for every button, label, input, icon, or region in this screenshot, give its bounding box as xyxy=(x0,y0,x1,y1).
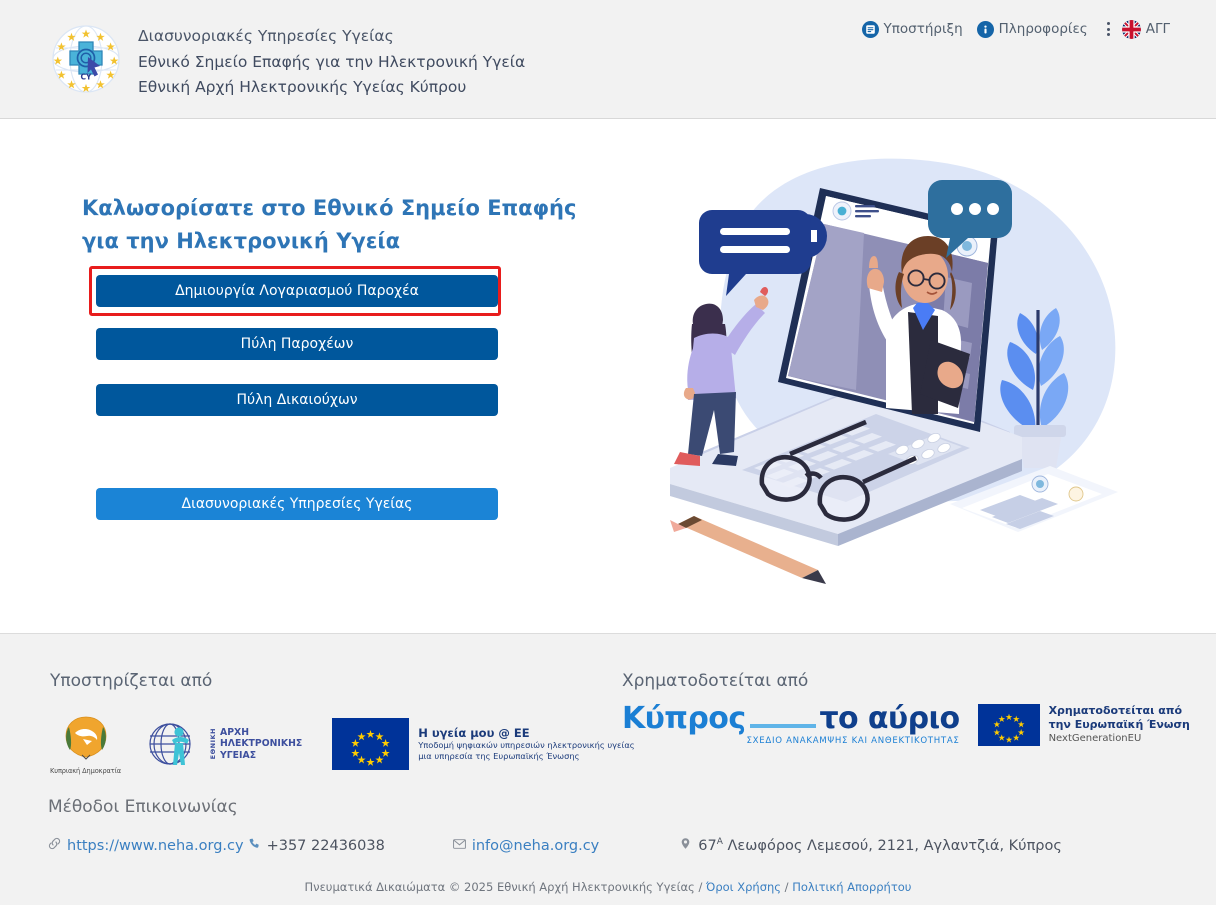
next-generation-eu-logo: Χρηματοδοτείται από την Ευρωπαϊκή Ένωση … xyxy=(978,704,1190,746)
provider-portal-button[interactable]: Πύλη Παροχέων xyxy=(96,328,498,360)
cyprus-tomorrow-word-1: Κύπρος xyxy=(622,703,746,735)
cyprus-republic-logo: Κυπριακή Δημοκρατία xyxy=(50,713,121,775)
ngeu-line-3: NextGenerationEU xyxy=(1049,732,1190,745)
uk-flag-icon xyxy=(1122,20,1141,39)
supported-by-heading: Υποστηρίζεται από xyxy=(50,671,635,691)
my-health-eu-sub-1: Υποδομή ψηφιακών υπηρεσιών ηλεκτρονικής … xyxy=(418,740,634,751)
my-health-eu-title: Η υγεία μου @ ΕΕ xyxy=(418,726,634,740)
link-icon xyxy=(48,837,61,854)
contact-methods-row: https://www.neha.org.cy +357 22436038 xyxy=(48,837,1168,854)
kebab-menu-icon[interactable] xyxy=(1102,19,1116,39)
funded-by-block: Χρηματοδοτείται από Κύπρος το αύριο ΣΧΕΔ… xyxy=(622,671,1190,746)
ngeu-line-2: την Ευρωπαϊκή Ένωση xyxy=(1049,718,1190,732)
eu-flag-icon-ngeu xyxy=(978,704,1040,746)
support-link[interactable]: Υποστήριξη xyxy=(862,21,963,38)
envelope-icon xyxy=(453,838,466,853)
phone-number: +357 22436038 xyxy=(267,838,385,854)
site-header: CY Διασυνοριακές Υπηρεσίες Υγείας Εθνικό… xyxy=(0,0,1216,119)
language-label: ΑΓΓ xyxy=(1146,21,1170,37)
brand-line-2: Εθνικό Σημείο Επαφής για την Ηλεκτρονική… xyxy=(138,50,525,76)
funded-by-heading: Χρηματοδοτείται από xyxy=(622,671,1190,691)
national-ehealth-authority-logo: ΕΘΝΙΚΗ ΑΡΧΗ ΗΛΕΚΤΡΟΝΙΚΗΣ ΥΓΕΙΑΣ xyxy=(145,721,302,767)
info-circle-icon xyxy=(977,21,994,38)
cyprus-tomorrow-tagline: ΣΧΕΔΙΟ ΑΝΑΚΑΜΨΗΣ ΚΑΙ ΑΝΘΕΚΤΙΚΟΤΗΤΑΣ xyxy=(622,736,960,746)
cyprus-republic-caption: Κυπριακή Δημοκρατία xyxy=(50,767,121,775)
beneficiary-portal-wrap: Πύλη Δικαιούχων xyxy=(96,384,498,416)
phone-contact[interactable]: +357 22436038 xyxy=(248,837,385,854)
create-provider-account-button[interactable]: Δημιουργία Λογαριασμού Παροχέα xyxy=(96,275,498,307)
address-contact: 67Α Λεωφόρος Λεμεσού, 2121, Αγλαντζιά, Κ… xyxy=(679,837,1062,854)
telehealth-laptop-doctor-illustration xyxy=(650,132,1150,602)
brand-line-1: Διασυνοριακές Υπηρεσίες Υγείας xyxy=(138,24,525,50)
website-contact[interactable]: https://www.neha.org.cy xyxy=(48,837,244,854)
copyright-bar: Πνευματικά Δικαιώματα © 2025 Εθνική Αρχή… xyxy=(0,880,1216,894)
support-document-icon xyxy=(862,21,879,38)
cta-button-group: Δημιουργία Λογαριασμού Παροχέα Πύλη Παρο… xyxy=(96,266,498,544)
address-number: 67 xyxy=(698,838,716,854)
ehealth-authority-line-1: ΑΡΧΗ xyxy=(220,727,302,738)
cross-border-health-services-button[interactable]: Διασυνοριακές Υπηρεσίες Υγείας xyxy=(96,488,498,520)
funded-logo-row: Κύπρος το αύριο ΣΧΕΔΙΟ ΑΝΑΚΑΜΨΗΣ ΚΑΙ ΑΝΘ… xyxy=(622,703,1190,746)
main-content: Καλωσορίσατε στο Εθνικό Σημείο Επαφής γι… xyxy=(0,120,1216,633)
svg-text:CY: CY xyxy=(81,73,93,82)
email-contact[interactable]: info@neha.org.cy xyxy=(453,838,599,854)
cyprus-tomorrow-logo: Κύπρος το αύριο ΣΧΕΔΙΟ ΑΝΑΚΑΜΨΗΣ ΚΑΙ ΑΝΘ… xyxy=(622,703,960,746)
ehealth-authority-line-2: ΗΛΕΚΤΡΟΝΙΚΗΣ xyxy=(220,738,302,749)
info-link-label: Πληροφορίες xyxy=(999,21,1088,37)
provider-portal-wrap: Πύλη Παροχέων xyxy=(96,328,498,360)
cyprus-tomorrow-divider xyxy=(750,724,816,728)
page-root: CY Διασυνοριακές Υπηρεσίες Υγείας Εθνικό… xyxy=(0,0,1216,905)
ehealth-authority-line-3: ΥΓΕΙΑΣ xyxy=(220,750,302,761)
email-link[interactable]: info@neha.org.cy xyxy=(472,838,599,854)
header-nav: Υποστήριξη Πληροφορίες xyxy=(862,19,1170,39)
map-pin-icon xyxy=(679,837,692,854)
supported-logo-row: Κυπριακή Δημοκρατία xyxy=(50,713,635,775)
contact-methods-heading: Μέθοδοι Επικοινωνίας xyxy=(48,797,238,817)
my-health-eu-logo: Η υγεία μου @ ΕΕ Υποδομή ψηφιακών υπηρεσ… xyxy=(332,718,634,770)
supported-by-block: Υποστηρίζεται από Κυπριακή Δημοκρατία xyxy=(50,671,635,775)
copyright-separator: / xyxy=(781,880,792,894)
welcome-heading: Καλωσορίσατε στο Εθνικό Σημείο Επαφής γι… xyxy=(82,192,582,258)
ngeu-line-1: Χρηματοδοτείται από xyxy=(1049,704,1190,718)
create-provider-account-highlight: Δημιουργία Λογαριασμού Παροχέα xyxy=(89,266,501,316)
beneficiary-portal-button[interactable]: Πύλη Δικαιούχων xyxy=(96,384,498,416)
ehealth-authority-vertical-label: ΕΘΝΙΚΗ xyxy=(209,728,217,759)
website-link[interactable]: https://www.neha.org.cy xyxy=(67,838,244,854)
address-text: 67Α Λεωφόρος Λεμεσού, 2121, Αγλαντζιά, Κ… xyxy=(698,837,1062,854)
address-rest: Λεωφόρος Λεμεσού, 2121, Αγλαντζιά, Κύπρο… xyxy=(723,838,1062,854)
eu-flag-icon xyxy=(332,718,409,770)
brand-block: CY Διασυνοριακές Υπηρεσίες Υγείας Εθνικό… xyxy=(48,21,525,101)
site-footer: Υποστηρίζεται από Κυπριακή Δημοκρατία xyxy=(0,633,1216,905)
copyright-text: Πνευματικά Δικαιώματα © 2025 Εθνική Αρχή… xyxy=(305,880,706,894)
my-health-eu-sub-2: μια υπηρεσία της Ευρωπαϊκής Ένωσης xyxy=(418,751,634,762)
info-link[interactable]: Πληροφορίες xyxy=(977,21,1088,38)
brand-line-3: Εθνική Αρχή Ηλεκτρονικής Υγείας Κύπρου xyxy=(138,75,525,101)
cyprus-tomorrow-word-2: το αύριο xyxy=(820,703,960,735)
brand-text-block: Διασυνοριακές Υπηρεσίες Υγείας Εθνικό Ση… xyxy=(138,21,525,101)
support-link-label: Υποστήριξη xyxy=(884,21,963,37)
terms-link[interactable]: Όροι Χρήσης xyxy=(706,880,781,894)
language-selector[interactable]: ΑΓΓ xyxy=(1122,20,1170,39)
cross-border-services-wrap: Διασυνοριακές Υπηρεσίες Υγείας xyxy=(96,488,498,520)
privacy-link[interactable]: Πολιτική Απορρήτου xyxy=(792,880,911,894)
phone-icon xyxy=(248,837,261,854)
ehealth-cy-logo-icon: CY xyxy=(48,21,124,97)
